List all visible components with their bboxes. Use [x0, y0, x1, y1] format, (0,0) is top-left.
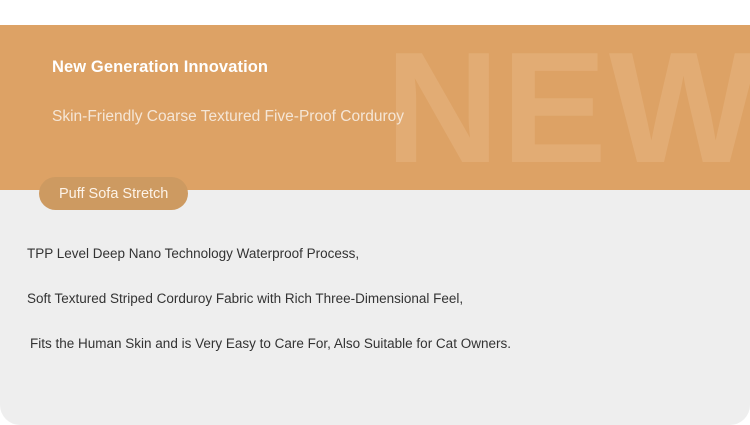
- banner-watermark-text: NEW: [385, 29, 750, 187]
- banner-heading: New Generation Innovation: [52, 58, 268, 77]
- product-badge: Puff Sofa Stretch: [39, 177, 188, 210]
- feature-line-2: Soft Textured Striped Corduroy Fabric wi…: [0, 291, 750, 307]
- feature-line-3: Fits the Human Skin and is Very Easy to …: [0, 336, 750, 352]
- banner-subheading: Skin-Friendly Coarse Textured Five-Proof…: [52, 106, 432, 128]
- feature-line-1: TPP Level Deep Nano Technology Waterproo…: [0, 246, 750, 262]
- feature-list: TPP Level Deep Nano Technology Waterproo…: [0, 246, 750, 352]
- product-feature-card: NEW New Generation Innovation Skin-Frien…: [0, 0, 750, 425]
- product-badge-label: Puff Sofa Stretch: [59, 186, 168, 202]
